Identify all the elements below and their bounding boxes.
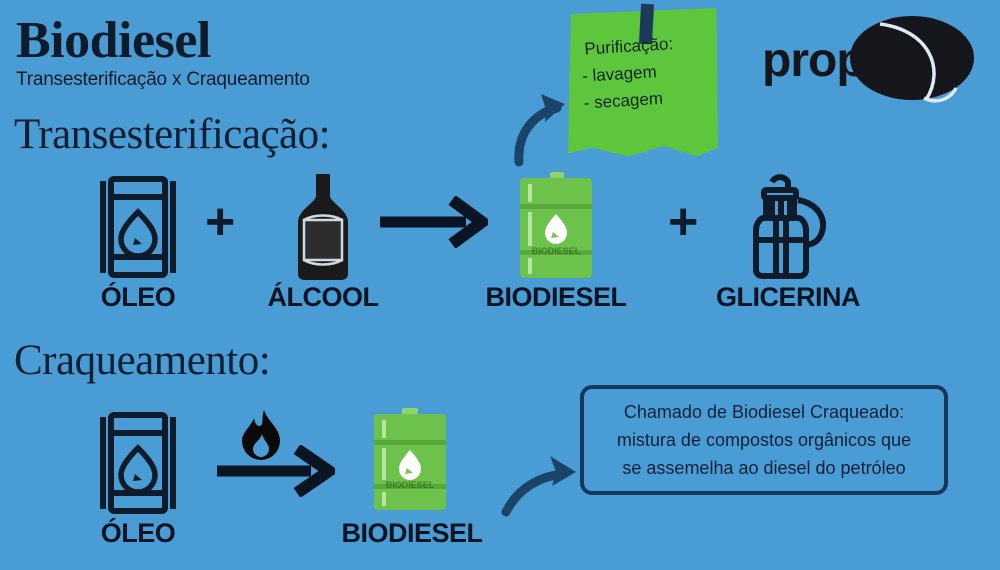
glycerin-jug-icon <box>742 170 832 287</box>
straight-arrow-icon-row2 <box>215 445 335 502</box>
label-biodiesel-row2: BIODIESEL <box>312 518 512 549</box>
oil-drum-icon-row2 <box>98 410 178 521</box>
sticky-note-text: Purificação: - lavagem - secagem <box>566 27 721 117</box>
label-oleo-row1: ÓLEO <box>58 282 218 313</box>
page-title: Biodiesel <box>16 14 310 68</box>
oil-drum-icon <box>98 174 178 285</box>
alcohol-bottle-icon <box>290 172 356 287</box>
green-barrel-icon-row1: BIODIESEL <box>518 172 594 287</box>
label-oleo-row2: ÓLEO <box>58 518 218 549</box>
barrel-text-row2: BIODIESEL <box>386 480 435 490</box>
propeq-logo-icon: propeq <box>760 14 988 106</box>
label-biodiesel-row1: BIODIESEL <box>466 282 646 313</box>
label-glicerina: GLICERINA <box>688 282 888 313</box>
info-box-line-3: se assemelha ao diesel do petróleo <box>622 454 905 482</box>
title-block: Biodiesel Transesterificação x Craqueame… <box>16 14 310 91</box>
svg-text:propeq: propeq <box>762 34 919 87</box>
curved-arrow-up-icon <box>505 88 585 173</box>
cracked-biodiesel-info-box: Chamado de Biodiesel Craqueado: mistura … <box>580 385 948 495</box>
label-alcool: ÁLCOOL <box>243 282 403 313</box>
green-barrel-icon-row2: BIODIESEL <box>372 408 448 519</box>
propeq-logo: propeq propeq <box>760 14 988 106</box>
barrel-text-row1: BIODIESEL <box>532 246 581 256</box>
info-box-line-2: mistura de compostos orgânicos que <box>617 426 911 454</box>
purification-sticky-note: Purificação: - lavagem - secagem <box>568 8 718 158</box>
infographic-canvas: Biodiesel Transesterificação x Craqueame… <box>0 0 1000 570</box>
curved-arrow-right-icon <box>500 442 590 523</box>
plus-operator-1: + <box>205 196 235 248</box>
section-heading-transesterification: Transesterificação: <box>14 112 330 158</box>
straight-arrow-icon-row1 <box>378 196 488 253</box>
info-box-line-1: Chamado de Biodiesel Craqueado: <box>624 398 904 426</box>
plus-operator-2: + <box>668 196 698 248</box>
section-heading-cracking: Craqueamento: <box>14 338 270 384</box>
page-subtitle: Transesterificação x Craqueamento <box>16 69 310 91</box>
